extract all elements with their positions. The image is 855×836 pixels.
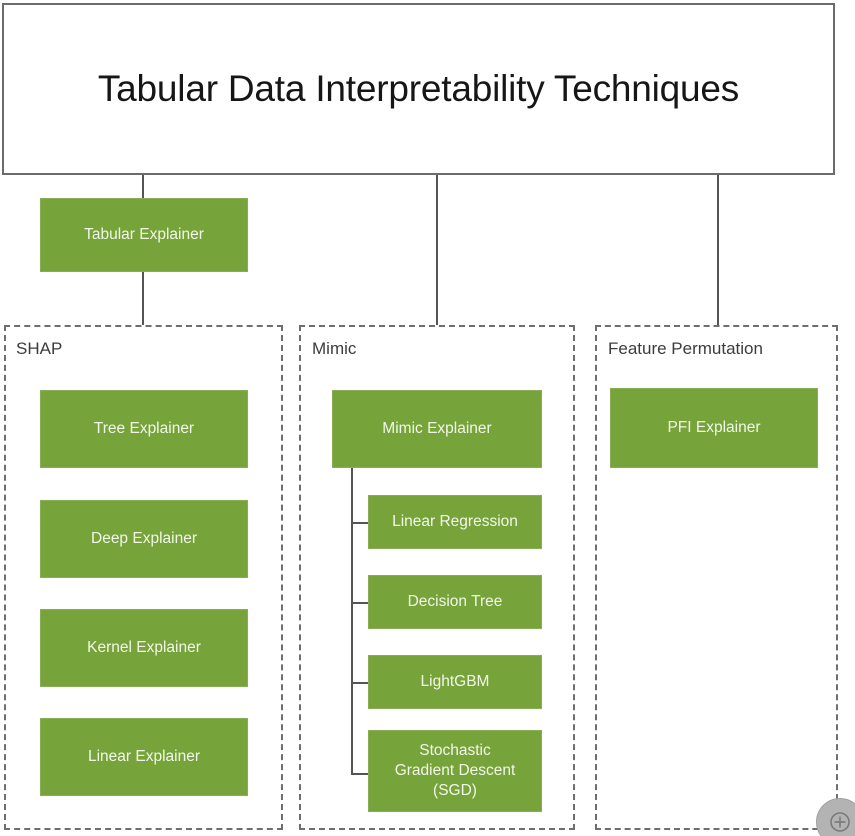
node-label: LightGBM	[421, 672, 490, 692]
node-pfi-explainer[interactable]: PFI Explainer	[610, 388, 818, 468]
node-label: Linear Regression	[392, 512, 518, 532]
connector-mimic-to-sgd	[351, 773, 369, 775]
node-stochastic-gradient-descent[interactable]: Stochastic Gradient Descent (SGD)	[368, 730, 542, 812]
node-mimic-explainer[interactable]: Mimic Explainer	[332, 390, 542, 468]
group-label-feature-permutation: Feature Permutation	[608, 339, 763, 359]
node-tree-explainer[interactable]: Tree Explainer	[40, 390, 248, 468]
diagram-title-box: Tabular Data Interpretability Techniques	[2, 3, 835, 175]
node-decision-tree[interactable]: Decision Tree	[368, 575, 542, 629]
node-label: Tree Explainer	[94, 419, 194, 439]
connector-mimic-to-lightgbm	[351, 682, 369, 684]
node-label: Deep Explainer	[91, 529, 197, 549]
node-label: PFI Explainer	[667, 418, 760, 438]
connector-mimic-to-linear-regression	[351, 522, 369, 524]
node-label: Mimic Explainer	[382, 419, 491, 439]
plus-circle-icon	[829, 811, 851, 833]
node-label-line-1: Stochastic	[419, 741, 491, 761]
group-label-shap: SHAP	[16, 339, 62, 359]
connector-tabular-explainer-to-shap	[142, 272, 144, 325]
node-label-line-2: Gradient Descent	[395, 761, 516, 781]
node-label: Tabular Explainer	[84, 225, 204, 245]
connector-title-to-mimic	[436, 175, 438, 325]
diagram-title: Tabular Data Interpretability Techniques	[98, 69, 739, 110]
node-label: Decision Tree	[408, 592, 503, 612]
connector-mimic-trunk	[351, 468, 353, 775]
node-linear-regression[interactable]: Linear Regression	[368, 495, 542, 549]
node-linear-explainer[interactable]: Linear Explainer	[40, 718, 248, 796]
connector-title-to-feature-permutation	[717, 175, 719, 325]
node-deep-explainer[interactable]: Deep Explainer	[40, 500, 248, 578]
node-lightgbm[interactable]: LightGBM	[368, 655, 542, 709]
group-label-mimic: Mimic	[312, 339, 356, 359]
node-tabular-explainer[interactable]: Tabular Explainer	[40, 198, 248, 272]
node-label: Linear Explainer	[88, 747, 200, 767]
connector-mimic-to-decision-tree	[351, 602, 369, 604]
diagram-canvas: Tabular Data Interpretability Techniques…	[0, 0, 855, 836]
node-label: Kernel Explainer	[87, 638, 201, 658]
connector-title-to-tabular-explainer	[142, 175, 144, 198]
node-label-line-3: (SGD)	[433, 781, 477, 801]
node-kernel-explainer[interactable]: Kernel Explainer	[40, 609, 248, 687]
